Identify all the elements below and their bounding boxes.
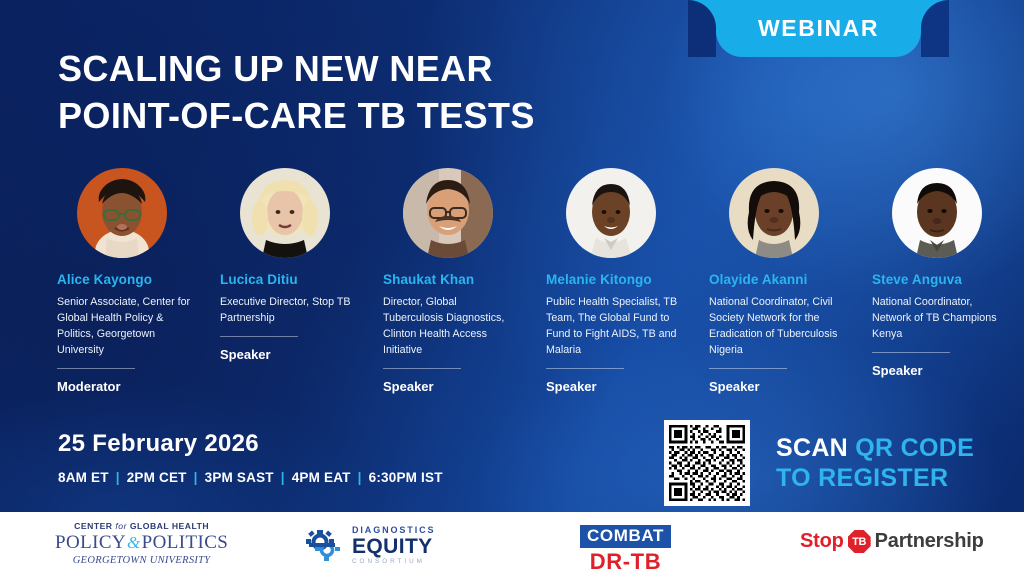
gt-global-health: GLOBAL HEALTH bbox=[127, 521, 209, 531]
qr-caption-line-1: SCAN QR CODE bbox=[776, 433, 974, 464]
speaker-title: Executive Director, Stop TB Partnership bbox=[220, 295, 355, 327]
speaker-title: National Coordinator, Network of TB Cham… bbox=[872, 295, 1007, 342]
avatar-wrap bbox=[366, 168, 529, 258]
qr-code-image bbox=[669, 425, 745, 501]
avatar bbox=[729, 168, 819, 258]
speaker-card: Shaukat Khan Director, Global Tuberculos… bbox=[366, 168, 529, 394]
speaker-title: Public Health Specialist, TB Team, The G… bbox=[546, 295, 681, 358]
timezone-item: 4PM EAT bbox=[292, 470, 351, 485]
timezone-separator: | bbox=[116, 470, 120, 485]
timezone-item: 8AM ET bbox=[58, 470, 109, 485]
timezone-separator: | bbox=[194, 470, 198, 485]
speaker-card: Melanie Kitongo Public Health Specialist… bbox=[529, 168, 692, 394]
combat-line-1: COMBAT bbox=[580, 525, 671, 548]
timezone-item: 2PM CET bbox=[127, 470, 187, 485]
speaker-role: Speaker bbox=[220, 347, 271, 362]
page-title: SCALING UP NEW NEAR POINT-OF-CARE TB TES… bbox=[58, 46, 698, 140]
logo-georgetown: CENTER for GLOBAL HEALTH POLICY&POLITICS… bbox=[55, 521, 228, 566]
speaker-card: Alice Kayongo Senior Associate, Center f… bbox=[40, 168, 203, 394]
avatar bbox=[240, 168, 330, 258]
speaker-divider bbox=[57, 368, 135, 369]
speaker-card: Steve Anguva National Coordinator, Netwo… bbox=[855, 168, 1018, 394]
stoptb-partnership: Partnership bbox=[875, 530, 984, 553]
speaker-name: Melanie Kitongo bbox=[546, 272, 652, 288]
timezone-item: 6:30PM IST bbox=[369, 470, 443, 485]
avatar-wrap bbox=[855, 168, 1018, 258]
gt-ampersand: & bbox=[127, 533, 141, 553]
speaker-card: Olayide Akanni National Coordinator, Civ… bbox=[692, 168, 855, 394]
combat-line-2: DR-TB bbox=[590, 549, 661, 575]
event-timezones: 8AM ET|2PM CET|3PM SAST|4PM EAT|6:30PM I… bbox=[58, 470, 443, 485]
qr-caption-line-2: TO REGISTER bbox=[776, 463, 974, 494]
speaker-card: Lucica Ditiu Executive Director, Stop TB… bbox=[203, 168, 366, 394]
speaker-name: Alice Kayongo bbox=[57, 272, 152, 288]
qr-scan-word: SCAN bbox=[776, 434, 848, 462]
qr-code[interactable] bbox=[664, 420, 750, 506]
speaker-role: Speaker bbox=[709, 379, 760, 394]
speaker-divider bbox=[872, 352, 950, 353]
speaker-divider bbox=[546, 368, 624, 369]
event-details: 25 February 2026 8AM ET|2PM CET|3PM SAST… bbox=[58, 430, 443, 485]
georgetown-line-2: POLICY&POLITICS bbox=[55, 532, 228, 554]
speaker-divider bbox=[709, 368, 787, 369]
de-line-3: CONSORTIUM bbox=[352, 559, 435, 565]
speaker-name: Lucica Ditiu bbox=[220, 272, 298, 288]
stoptb-tb: TB bbox=[852, 536, 866, 548]
georgetown-line-3: GEORGETOWN UNIVERSITY bbox=[73, 555, 211, 566]
speaker-title: Senior Associate, Center for Global Heal… bbox=[57, 295, 192, 358]
badge-notch-right bbox=[921, 0, 949, 57]
gt-politics: POLITICS bbox=[142, 532, 229, 554]
webinar-badge: WEBINAR bbox=[688, 0, 949, 57]
avatar-wrap bbox=[203, 168, 366, 258]
avatar bbox=[892, 168, 982, 258]
logo-diagnostics-equity: DIAGNOSTICS EQUITY CONSORTIUM bbox=[305, 526, 435, 565]
speaker-role: Moderator bbox=[57, 379, 121, 394]
speaker-divider bbox=[383, 368, 461, 369]
georgetown-line-1: CENTER for GLOBAL HEALTH bbox=[74, 521, 209, 531]
qr-caption: SCAN QR CODE TO REGISTER bbox=[776, 433, 974, 494]
speaker-title: National Coordinator, Civil Society Netw… bbox=[709, 295, 844, 358]
event-date: 25 February 2026 bbox=[58, 430, 443, 458]
speaker-title: Director, Global Tuberculosis Diagnostic… bbox=[383, 295, 518, 358]
speaker-name: Olayide Akanni bbox=[709, 272, 807, 288]
timezone-separator: | bbox=[358, 470, 362, 485]
diagnostics-text: DIAGNOSTICS EQUITY CONSORTIUM bbox=[352, 526, 435, 565]
gear-icon bbox=[305, 530, 345, 562]
speaker-role: Speaker bbox=[546, 379, 597, 394]
gt-policy: POLICY bbox=[55, 532, 126, 554]
avatar-wrap bbox=[40, 168, 203, 258]
avatar bbox=[566, 168, 656, 258]
qr-register-block: SCAN QR CODE TO REGISTER bbox=[664, 420, 974, 506]
gt-for: for bbox=[115, 521, 127, 531]
timezone-item: 3PM SAST bbox=[205, 470, 274, 485]
avatar-wrap bbox=[529, 168, 692, 258]
timezone-separator: | bbox=[281, 470, 285, 485]
webinar-poster: WEBINAR SCALING UP NEW NEAR POINT-OF-CAR… bbox=[0, 0, 1024, 576]
title-line-1: SCALING UP NEW NEAR bbox=[58, 46, 698, 93]
de-line-2: EQUITY bbox=[352, 536, 435, 557]
badge-label: WEBINAR bbox=[758, 15, 879, 42]
badge-body: WEBINAR bbox=[716, 0, 921, 57]
speaker-name: Shaukat Khan bbox=[383, 272, 474, 288]
logo-stop-tb-partnership: Stop TB Partnership bbox=[800, 530, 984, 553]
stop-sign-icon: TB bbox=[848, 530, 871, 553]
gt-center: CENTER bbox=[74, 521, 115, 531]
avatar-wrap bbox=[692, 168, 855, 258]
speaker-list: Alice Kayongo Senior Associate, Center f… bbox=[40, 168, 1020, 394]
stoptb-stop: Stop bbox=[800, 530, 844, 553]
speaker-divider bbox=[220, 336, 298, 337]
avatar bbox=[403, 168, 493, 258]
speaker-name: Steve Anguva bbox=[872, 272, 962, 288]
speaker-role: Speaker bbox=[383, 379, 434, 394]
de-line-1: DIAGNOSTICS bbox=[352, 526, 435, 535]
title-line-2: POINT-OF-CARE TB TESTS bbox=[58, 93, 698, 140]
avatar bbox=[77, 168, 167, 258]
logo-combat-drtb: COMBAT DR-TB bbox=[580, 525, 671, 575]
speaker-role: Speaker bbox=[872, 363, 923, 378]
qr-code-words: QR CODE bbox=[855, 434, 974, 462]
